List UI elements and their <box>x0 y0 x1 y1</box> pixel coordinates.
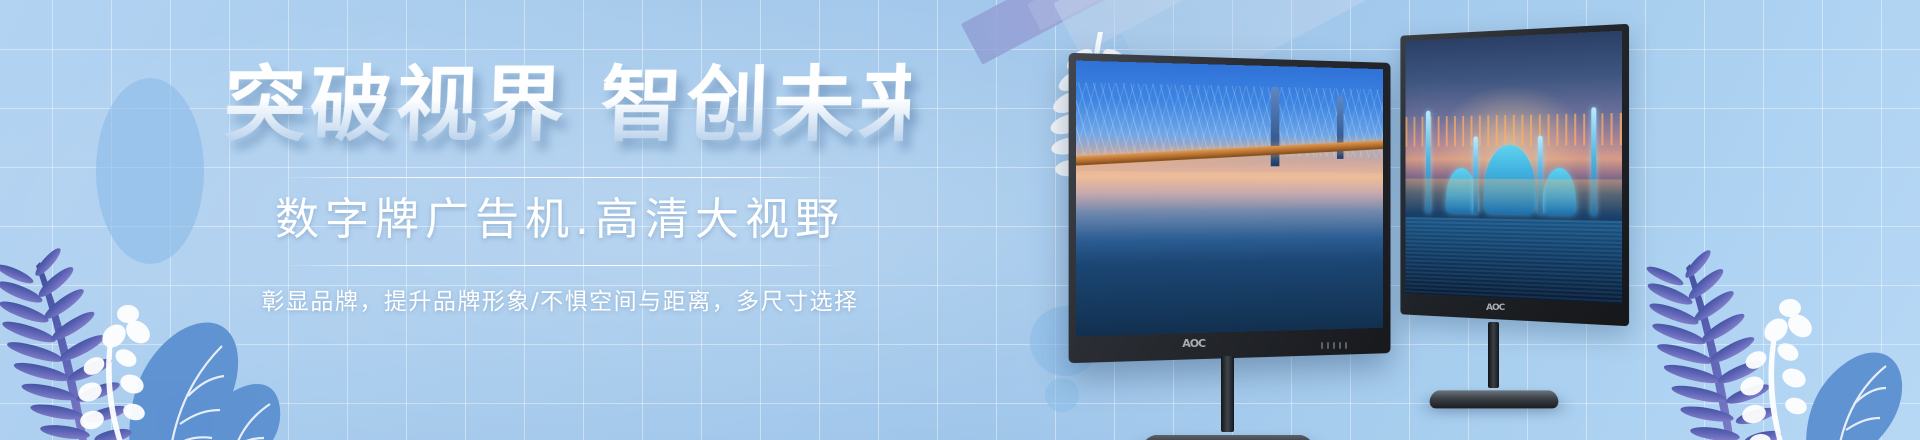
water-reflection <box>1406 217 1622 303</box>
aoc-logo-rear: AOC <box>1486 303 1504 313</box>
copy-block: 突破视界 智创未来 数字牌广告机.高清大视野 彰显品牌，提升品牌形象/不惧空间与… <box>210 62 910 316</box>
monitor-front-stand-base <box>1140 435 1317 440</box>
divider-upper <box>280 177 840 178</box>
monitor-rear: AOC <box>1390 30 1630 320</box>
aoc-logo-front: AOC <box>1182 337 1205 350</box>
headline: 突破视界 智创未来 <box>208 62 911 151</box>
rocky-shore <box>1076 235 1383 337</box>
monitor-rear-screen <box>1406 31 1622 304</box>
product-monitors: AOC AOC <box>1070 2 1730 440</box>
monitor-front: AOC <box>1070 58 1400 358</box>
sea-glow <box>1076 171 1383 243</box>
promo-banner: 突破视界 智创未来 数字牌广告机.高清大视野 彰显品牌，提升品牌形象/不惧空间与… <box>0 0 1920 440</box>
bezel-indicator-dots <box>1321 342 1347 349</box>
divider-lower <box>280 265 840 266</box>
mosque-illustration <box>1406 123 1622 216</box>
subheadline: 数字牌广告机.高清大视野 <box>210 192 910 247</box>
tagline: 彰显品牌，提升品牌形象/不惧空间与距离，多尺寸选择 <box>210 282 910 316</box>
monitor-rear-stand-neck <box>1488 322 1499 388</box>
monitor-front-stand-neck <box>1221 356 1234 432</box>
monitor-front-screen <box>1076 61 1383 337</box>
monitor-rear-stand-base <box>1428 390 1561 408</box>
